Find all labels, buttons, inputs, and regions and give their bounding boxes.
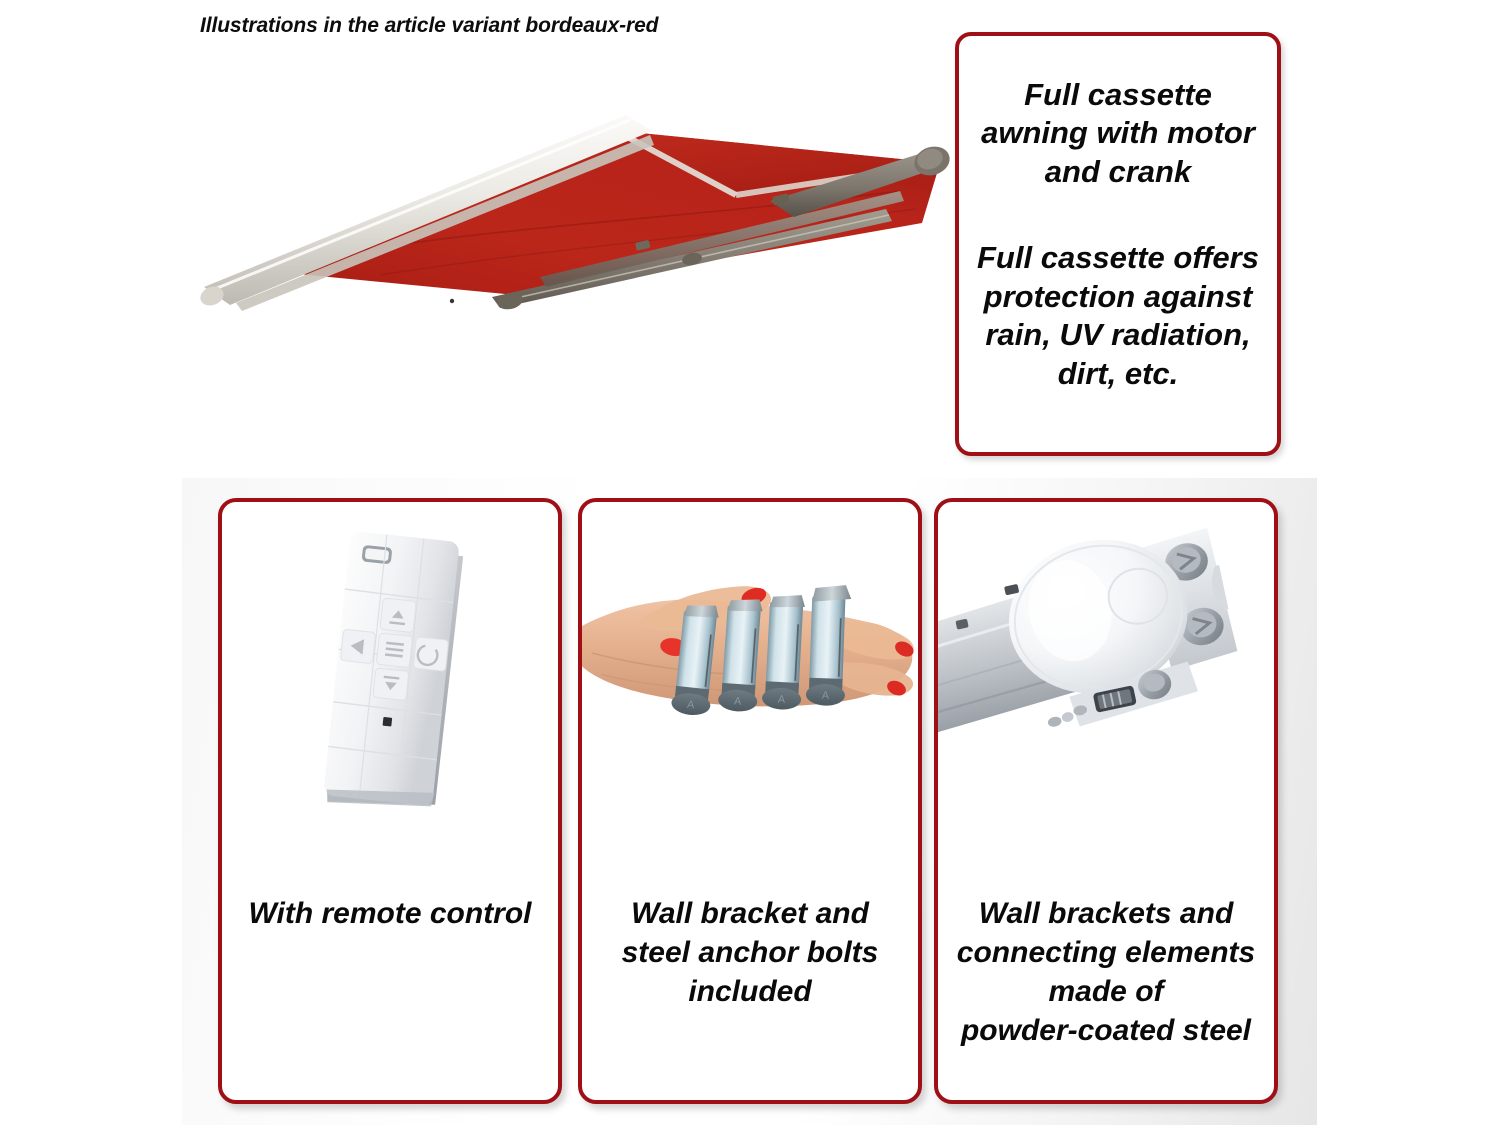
feature-card-remote-control: With remote control [218,498,562,1104]
remote-control-image [222,502,558,884]
feature-paragraph-2: Full cassette offers protection against … [975,239,1261,393]
anchor-bolts-image: A A [582,502,918,884]
infographic-canvas: Illustrations in the article variant bor… [0,0,1500,1125]
feature-paragraph-1: Full cassette awning with motor and cran… [975,76,1261,191]
card-caption: With remote control [232,894,548,933]
wall-bracket-image [938,502,1274,884]
card-caption: Wall brackets and connecting elements ma… [948,894,1264,1050]
card-caption: Wall bracket and steel anchor bolts incl… [592,894,908,1011]
feature-card-anchor-bolts: A A [578,498,922,1104]
feature-card-wall-brackets: Wall brackets and connecting elements ma… [934,498,1278,1104]
awning-illustration [180,105,970,335]
svg-text:A: A [822,690,830,702]
feature-callout-box: Full cassette awning with motor and cran… [955,32,1281,456]
page-title: Illustrations in the article variant bor… [200,14,658,38]
